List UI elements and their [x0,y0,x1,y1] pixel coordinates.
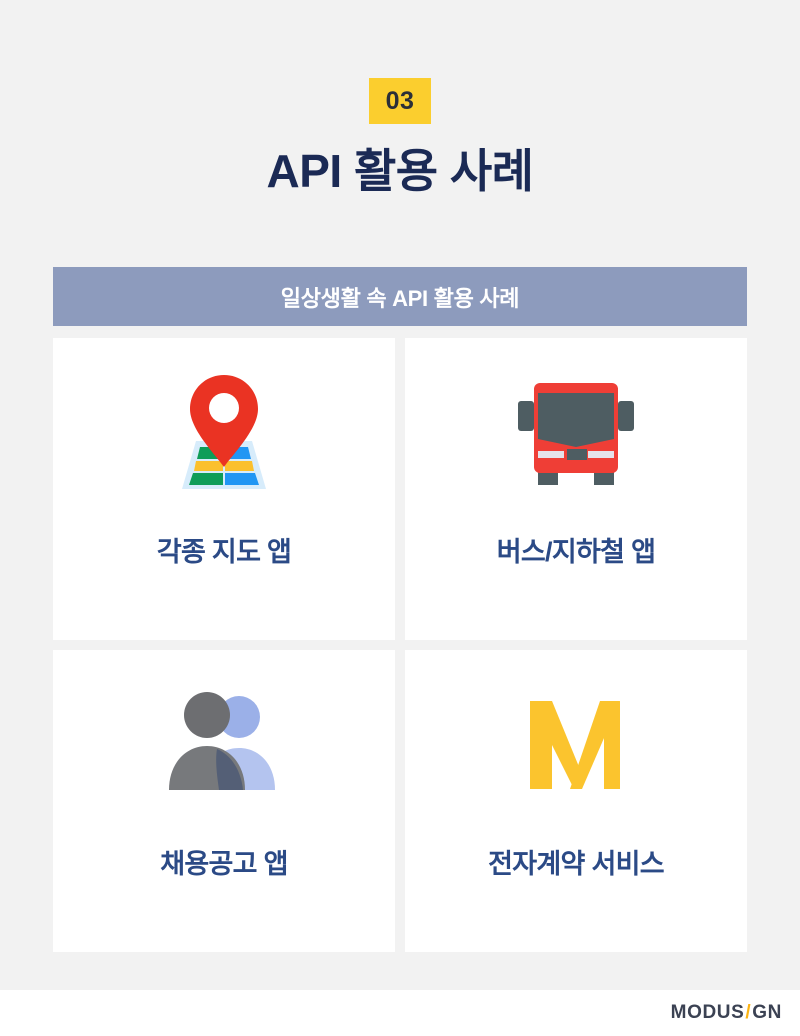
page-title: API 활용 사례 [0,146,800,197]
footer: MODUS/GN [0,990,800,1036]
map-pin-icon [164,371,284,495]
card-label: 각종 지도 앱 [157,530,291,569]
cards-grid: 각종 지도 앱 [53,338,747,952]
card-econtract-service[interactable]: 전자계약 서비스 [405,650,747,952]
section-header-label: 일상생활 속 API 활용 사례 [281,281,519,313]
modusign-logo: MODUS/GN [671,1002,782,1024]
logo-text-part1: MODUS [671,1002,745,1024]
logo-slash: / [744,1002,752,1024]
card-job-posting-app[interactable]: 채용공고 앱 [53,650,395,952]
section-number-wrap: 03 [0,0,800,124]
infographic-page: 03 API 활용 사례 일상생활 속 API 활용 사례 [0,0,800,1036]
card-icon-wrap [53,338,395,528]
modusign-m-icon [522,691,630,799]
people-icon [159,690,289,800]
card-icon-wrap [405,338,747,528]
card-icon-wrap [53,650,395,840]
card-map-app[interactable]: 각종 지도 앱 [53,338,395,640]
card-bus-subway-app[interactable]: 버스/지하철 앱 [405,338,747,640]
card-label: 버스/지하철 앱 [497,530,655,569]
card-label: 채용공고 앱 [160,842,288,881]
bus-icon [512,375,640,491]
section-header-bar: 일상생활 속 API 활용 사례 [53,267,747,326]
card-label: 전자계약 서비스 [488,842,664,881]
card-icon-wrap [405,650,747,840]
section-number-badge: 03 [369,78,431,124]
logo-text-part2: GN [752,1002,782,1024]
